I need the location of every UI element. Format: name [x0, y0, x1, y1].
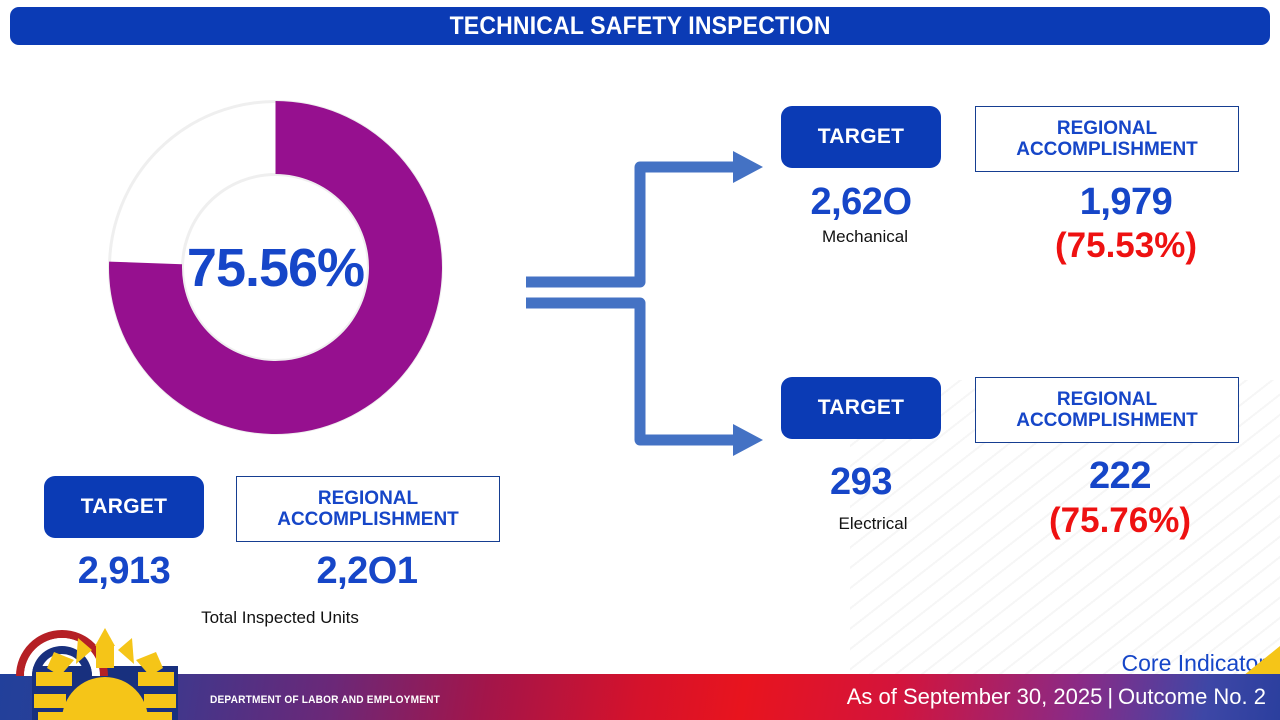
- caption-mechanical: Mechanical: [781, 227, 949, 247]
- footer-separator: |: [1102, 684, 1118, 709]
- footer-as-of-date: As of September 30, 2025: [847, 684, 1103, 709]
- target-value-total: 2,913: [44, 550, 204, 593]
- regional-accomplishment-value-mechanical: 1,979: [995, 181, 1257, 224]
- target-chip-total-label: TARGET: [81, 495, 168, 519]
- regional-accomplishment-box-mechanical: REGIONAL ACCOMPLISHMENT: [975, 106, 1239, 172]
- caption-electrical: Electrical: [789, 514, 957, 534]
- regional-accomplishment-percent-electrical: (75.76%): [989, 501, 1251, 541]
- footer-outcome: Outcome No. 2: [1118, 684, 1266, 709]
- regional-accomplishment-value-total: 2,2O1: [236, 550, 498, 593]
- arrow-path-electrical: [526, 303, 737, 440]
- regional-accomplishment-box-total: REGIONAL ACCOMPLISHMENT: [236, 476, 500, 542]
- regional-accomplishment-electrical-label: REGIONAL ACCOMPLISHMENT: [976, 389, 1238, 432]
- footer-meta: As of September 30, 2025|Outcome No. 2: [847, 684, 1266, 710]
- arrow-head-electrical: [733, 424, 763, 456]
- target-value-mechanical: 2,62O: [781, 181, 941, 224]
- connector-arrows: [515, 145, 770, 465]
- page-title-bar: TECHNICAL SAFETY INSPECTION: [10, 7, 1270, 45]
- regional-accomplishment-total-label: REGIONAL ACCOMPLISHMENT: [237, 488, 499, 531]
- dole-sun-logo: [14, 624, 196, 720]
- target-chip-electrical: TARGET: [781, 377, 941, 439]
- donut-center-percent-wrap: 75.56%: [87, 99, 464, 436]
- target-value-electrical: 293: [781, 461, 941, 504]
- target-chip-mechanical-label: TARGET: [818, 125, 905, 149]
- target-chip-electrical-label: TARGET: [818, 396, 905, 420]
- donut-center-percent: 75.56%: [187, 237, 364, 299]
- footer-agency-name: DEPARTMENT OF LABOR AND EMPLOYMENT: [210, 694, 440, 706]
- arrow-head-mechanical: [733, 151, 763, 183]
- regional-accomplishment-value-electrical: 222: [989, 455, 1251, 498]
- target-chip-mechanical: TARGET: [781, 106, 941, 168]
- regional-accomplishment-mechanical-label: REGIONAL ACCOMPLISHMENT: [976, 118, 1238, 161]
- page-title: TECHNICAL SAFETY INSPECTION: [449, 12, 830, 41]
- regional-accomplishment-percent-mechanical: (75.53%): [995, 226, 1257, 266]
- arrow-path-mechanical: [526, 167, 737, 282]
- donut-chart: 75.56%: [107, 99, 444, 436]
- target-chip-total: TARGET: [44, 476, 204, 538]
- regional-accomplishment-box-electrical: REGIONAL ACCOMPLISHMENT: [975, 377, 1239, 443]
